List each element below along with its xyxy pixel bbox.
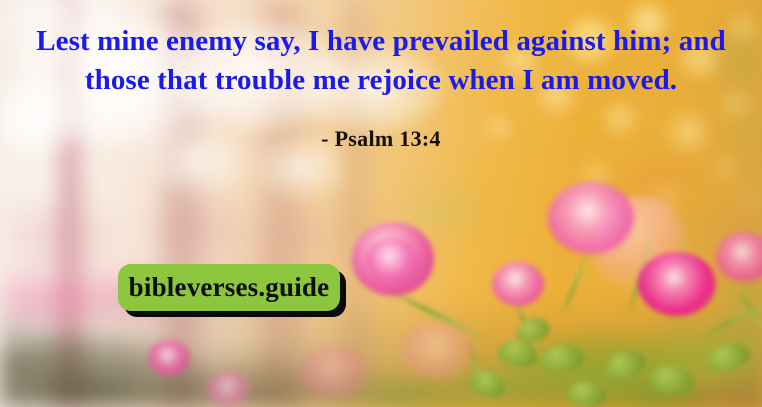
site-watermark-label: bibleverses.guide	[129, 272, 330, 303]
bible-verse-text: Lest mine enemy say, I have prevailed ag…	[0, 22, 762, 100]
flower-blossom	[366, 238, 418, 284]
flower-blossom	[206, 372, 252, 406]
flower-blossom	[300, 346, 370, 398]
verse-reference: - Psalm 13:4	[0, 126, 762, 152]
flower-blossom	[400, 322, 478, 380]
flower-blossom	[638, 252, 716, 316]
flower-blossom	[548, 182, 634, 254]
verse-image-canvas: Lest mine enemy say, I have prevailed ag…	[0, 0, 762, 407]
site-watermark-badge[interactable]: bibleverses.guide	[118, 264, 340, 311]
flower-blossom	[492, 262, 544, 306]
flower-blossom	[148, 340, 190, 376]
